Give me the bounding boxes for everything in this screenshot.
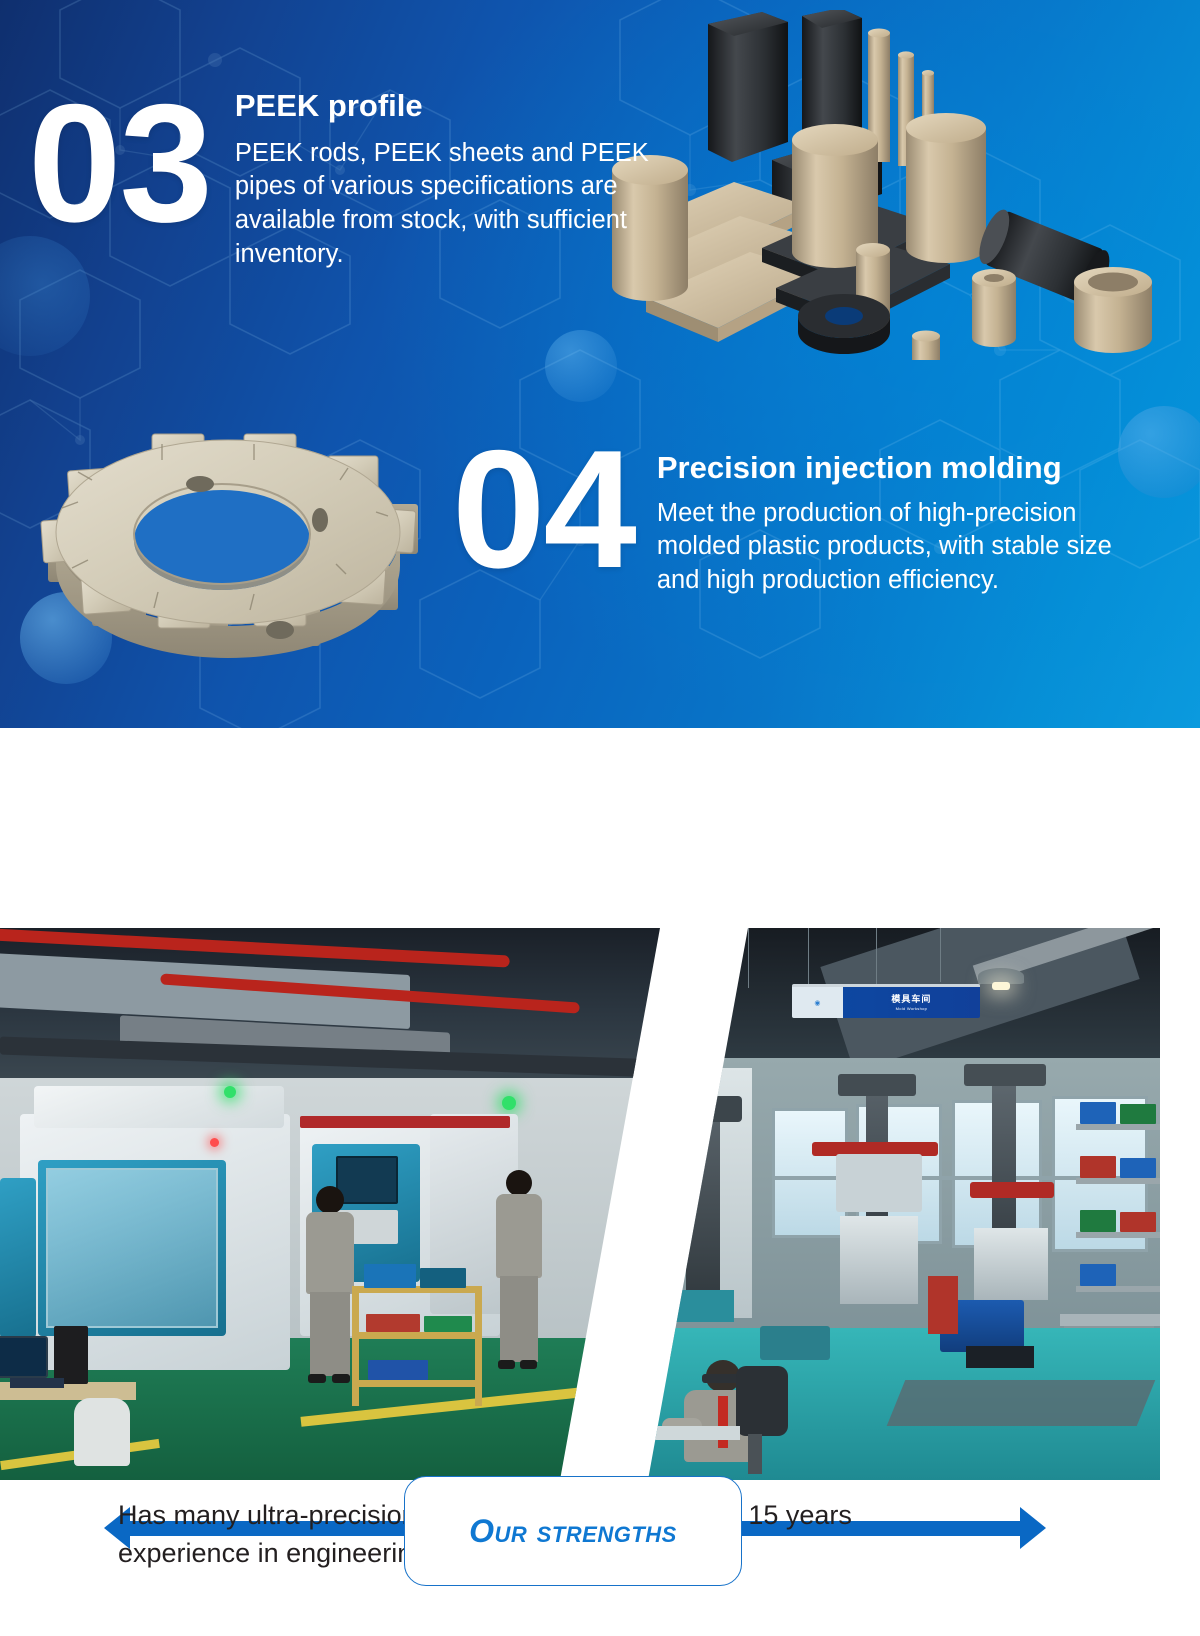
our-strengths-label: Our strengths: [469, 1513, 677, 1550]
feature-number-03: 03: [28, 88, 211, 239]
feature-title-04: Precision injection molding: [657, 450, 1157, 487]
mold-workshop-photo: ◉ 模具车间 Mold Workshop: [640, 928, 1160, 1480]
cnc-machining-workshop-photo: [0, 928, 660, 1480]
peek-rods-sheets-pipes-photo: [612, 10, 1192, 360]
our-strengths-label-box: Our strengths: [404, 1476, 742, 1586]
workshop-photo-collage: ◉ 模具车间 Mold Workshop: [0, 928, 1160, 1480]
our-strengths-banner: Our strengths: [0, 728, 1200, 928]
page-root: 03 PEEK profile PEEK rods, PEEK sheets a…: [0, 0, 1200, 1636]
feature-item-04: 04 Precision injection molding Meet the …: [452, 434, 1157, 598]
mold-workshop-sign: ◉ 模具车间 Mold Workshop: [792, 984, 980, 1018]
feature-number-04: 04: [452, 434, 635, 585]
features-blue-panel: 03 PEEK profile PEEK rods, PEEK sheets a…: [0, 0, 1200, 728]
feature-item-03: 03 PEEK profile PEEK rods, PEEK sheets a…: [28, 84, 675, 272]
peek-gear-ring-photo: [28, 392, 428, 677]
feature-description-04: Meet the production of high-precision mo…: [657, 497, 1157, 599]
feature-description-03: PEEK rods, PEEK sheets and PEEK pipes of…: [235, 137, 675, 273]
mold-workshop-sign-chinese: 模具车间: [891, 995, 931, 1004]
sign-logo-icon: ◉: [814, 999, 820, 1007]
feature-title-03: PEEK profile: [235, 88, 675, 125]
mold-workshop-sign-english: Mold Workshop: [896, 1007, 928, 1011]
